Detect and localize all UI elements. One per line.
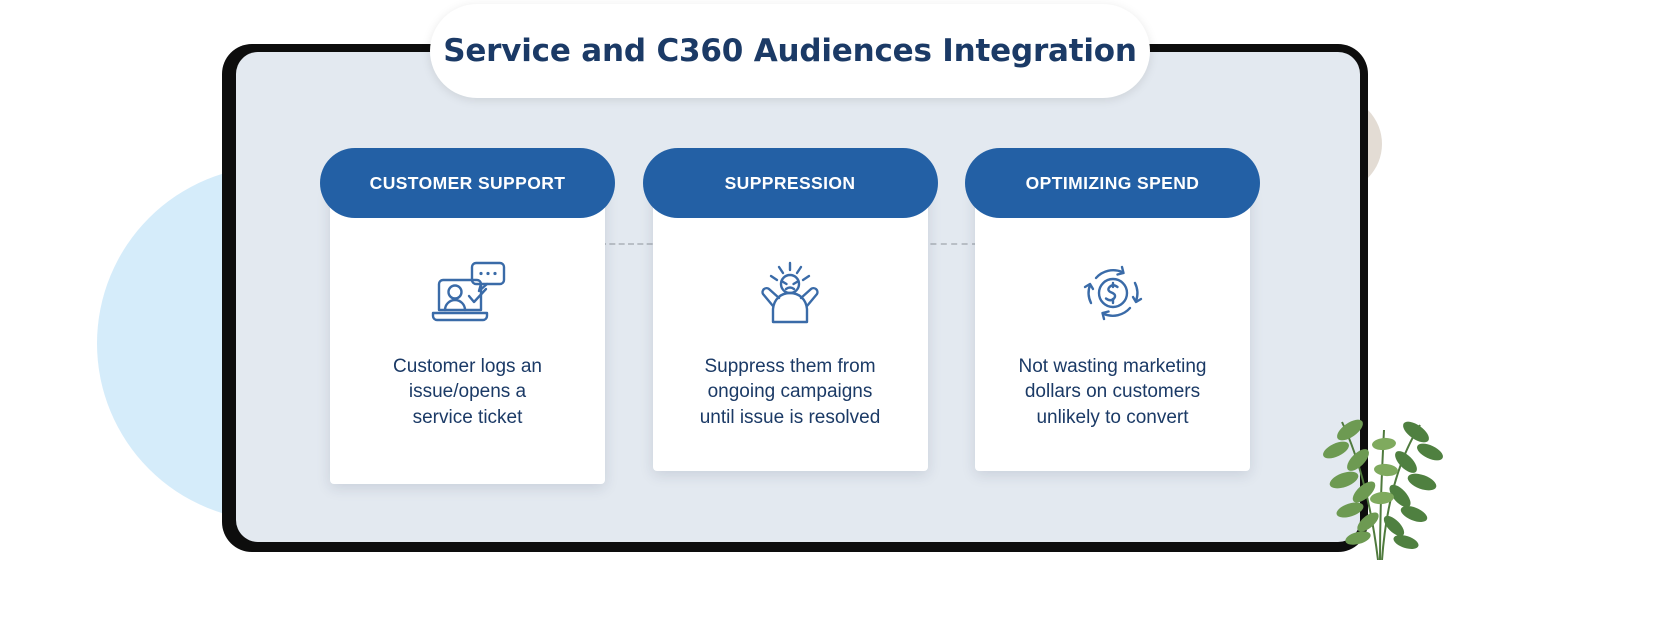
- card-header-optimizing-spend: OPTIMIZING SPEND: [965, 148, 1260, 218]
- card-header-label: OPTIMIZING SPEND: [1026, 173, 1200, 194]
- card-description: Suppress them from ongoing campaigns unt…: [686, 354, 895, 430]
- cards-row: CUSTOMER SUPPORT: [320, 148, 1260, 488]
- infographic-canvas: Service and C360 Audiences Integration C…: [0, 0, 1668, 619]
- card-header-suppression: SUPPRESSION: [643, 148, 938, 218]
- dollar-recycle-icon: [1073, 258, 1153, 328]
- card-header-label: SUPPRESSION: [725, 173, 856, 194]
- frustrated-person-icon: [750, 258, 830, 328]
- laptop-chat-person-icon: [428, 258, 508, 328]
- card-body-customer-support: Customer logs an issue/opens a service t…: [330, 186, 605, 484]
- card-description: Not wasting marketing dollars on custome…: [1005, 354, 1221, 430]
- card-header-customer-support: CUSTOMER SUPPORT: [320, 148, 615, 218]
- card-description: Customer logs an issue/opens a service t…: [379, 354, 556, 430]
- card-body-suppression: Suppress them from ongoing campaigns unt…: [653, 186, 928, 471]
- card-optimizing-spend[interactable]: OPTIMIZING SPEND: [965, 148, 1260, 488]
- page-title: Service and C360 Audiences Integration: [443, 33, 1137, 69]
- card-body-optimizing-spend: Not wasting marketing dollars on custome…: [975, 186, 1250, 471]
- title-pill: Service and C360 Audiences Integration: [430, 4, 1150, 98]
- card-header-label: CUSTOMER SUPPORT: [370, 173, 566, 194]
- card-suppression[interactable]: SUPPRESSION Suppress them from ongoing c…: [643, 148, 938, 488]
- card-customer-support[interactable]: CUSTOMER SUPPORT: [320, 148, 615, 488]
